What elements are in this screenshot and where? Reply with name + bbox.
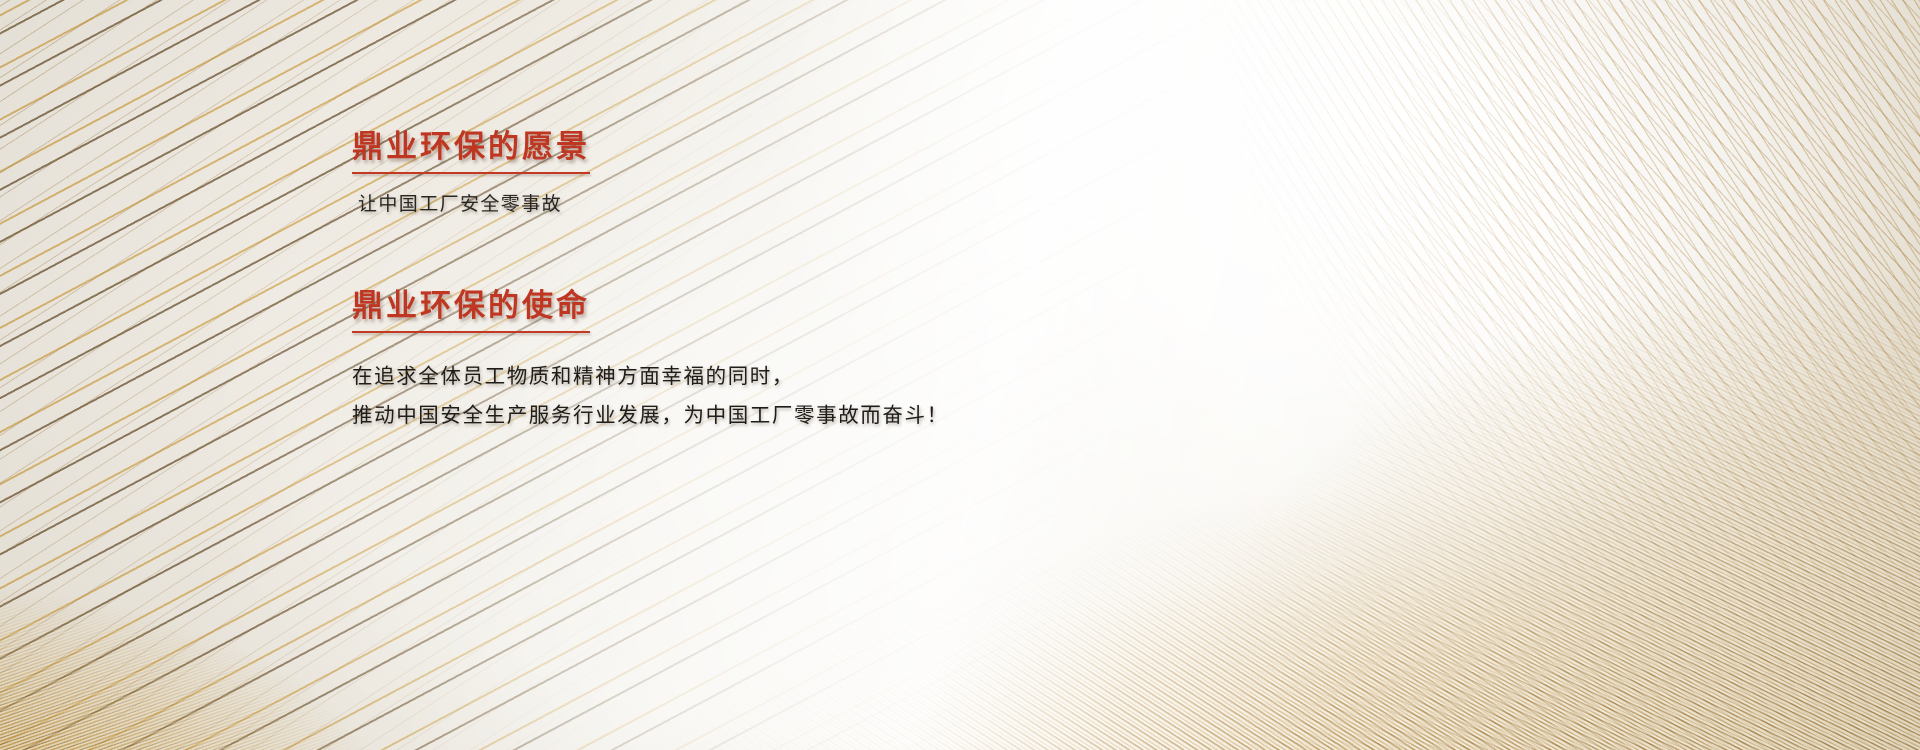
vision-heading: 鼎业环保的愿景 — [352, 128, 590, 174]
banner-content: 鼎业环保的愿景 让中国工厂安全零事故 鼎业环保的使命 在追求全体员工物质和精神方… — [352, 128, 1332, 436]
mission-body: 在追求全体员工物质和精神方面幸福的同时， 推动中国安全生产服务行业发展，为中国工… — [352, 357, 1332, 436]
vision-mission-banner: 鼎业环保的愿景 让中国工厂安全零事故 鼎业环保的使命 在追求全体员工物质和精神方… — [0, 0, 1920, 750]
vision-block: 鼎业环保的愿景 让中国工厂安全零事故 — [352, 128, 1332, 219]
mission-heading: 鼎业环保的使命 — [352, 287, 590, 333]
mission-block: 鼎业环保的使命 在追求全体员工物质和精神方面幸福的同时， 推动中国安全生产服务行… — [352, 287, 1332, 436]
mission-line: 推动中国安全生产服务行业发展，为中国工厂零事故而奋斗！ — [352, 396, 1332, 435]
vision-subtitle: 让中国工厂安全零事故 — [358, 191, 1332, 220]
mission-line: 在追求全体员工物质和精神方面幸福的同时， — [352, 357, 1332, 396]
